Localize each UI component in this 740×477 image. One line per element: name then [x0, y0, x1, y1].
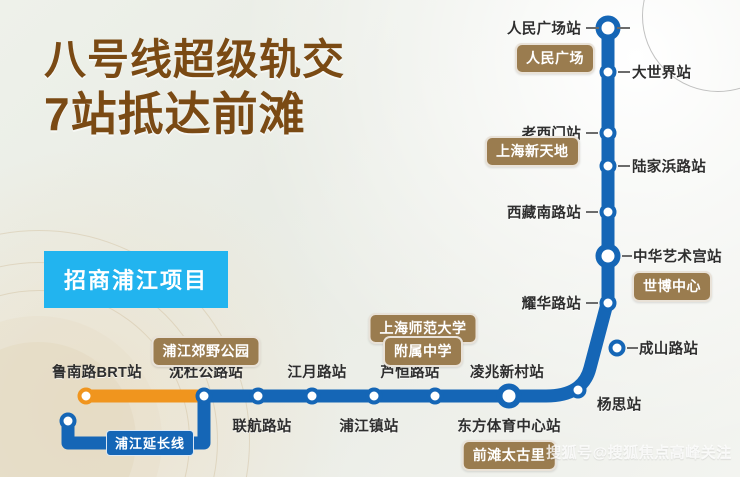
poi-badge-xintiandi[interactable]: 上海新天地 [485, 136, 580, 167]
label-tick [586, 132, 598, 134]
poi-badge-qiantan-taikooli[interactable]: 前滩太古里 [462, 440, 557, 471]
station-dot-lingzhao-xincun[interactable] [427, 388, 444, 405]
label-tick [618, 71, 630, 73]
station-label-lianhang-lu: 联航路站 [232, 415, 291, 436]
station-label-pujiang-zhen: 浦江镇站 [339, 415, 398, 436]
line-tag-pujiang-extension: 浦江延长线 [106, 430, 194, 456]
station-dot-dashijie[interactable] [600, 64, 617, 81]
label-tick [618, 165, 630, 167]
station-dot-lujiabang-lu[interactable] [600, 158, 617, 175]
label-tick [627, 347, 638, 349]
label-tick [617, 27, 630, 29]
station-dot-pujiang-zhen[interactable] [304, 388, 321, 405]
label-tick [586, 27, 599, 29]
station-dot-extension-terminus[interactable] [60, 413, 77, 430]
poi-badge-shibo-zhongxin[interactable]: 世博中心 [632, 271, 712, 302]
station-label-lingzhao-xincun: 凌兆新村站 [470, 361, 544, 382]
station-label-jiangyue-lu: 江月路站 [287, 361, 346, 382]
station-label-chengshan-lu: 成山路站 [639, 338, 698, 359]
label-tick [586, 302, 598, 304]
station-dot-zhonghua-yishugong[interactable] [596, 244, 621, 269]
station-dot-shendu-gonglu[interactable] [196, 388, 213, 405]
poi-badge-pujiang-jiaoye-gongyuan[interactable]: 浦江郊野公园 [152, 336, 261, 367]
watermark: 搜狐号@搜狐焦点高峰关注 [546, 442, 732, 463]
station-label-yaohua-lu: 耀华路站 [522, 293, 581, 314]
station-label-dashijie: 大世界站 [632, 62, 691, 83]
station-dot-luheng-lu[interactable] [366, 388, 383, 405]
poi-badge-renmin-guangchang[interactable]: 人民广场 [515, 43, 595, 74]
poi-badge-fushu-zhongxue[interactable]: 附属中学 [383, 336, 463, 367]
station-label-lujiabang-lu: 陆家浜路站 [632, 156, 706, 177]
station-dot-yangsi[interactable] [570, 382, 587, 399]
station-dot-xizang-nan-lu[interactable] [600, 204, 617, 221]
station-label-yangsi: 杨思站 [597, 394, 641, 415]
station-label-dongfang-tiyu-zhongxin: 东方体育中心站 [457, 415, 561, 436]
station-dot-laoximen[interactable] [600, 125, 617, 142]
station-label-zhonghua-yishugong: 中华艺术宫站 [633, 246, 722, 267]
label-tick [586, 211, 598, 213]
station-label-xizang-nan-lu: 西藏南路站 [507, 202, 581, 223]
station-label-renmin-guangchang: 人民广场站 [507, 18, 581, 39]
station-dot-lunan-lu-brt[interactable] [78, 388, 95, 405]
metro-line-infographic: 八号线超级轨交 7站抵达前滩 招商浦江项目 人民广场站 大世界站 老西门站 陆家… [0, 0, 740, 477]
station-dot-dongfang-tiyu-zhongxin[interactable] [497, 384, 522, 409]
station-label-lunan-lu-brt: 鲁南路BRT站 [52, 361, 142, 382]
station-dot-jiangyue-lu[interactable] [250, 388, 267, 405]
station-dot-chengshan-lu[interactable] [609, 340, 626, 357]
station-dot-yaohua-lu[interactable] [600, 295, 617, 312]
label-tick [622, 255, 632, 257]
